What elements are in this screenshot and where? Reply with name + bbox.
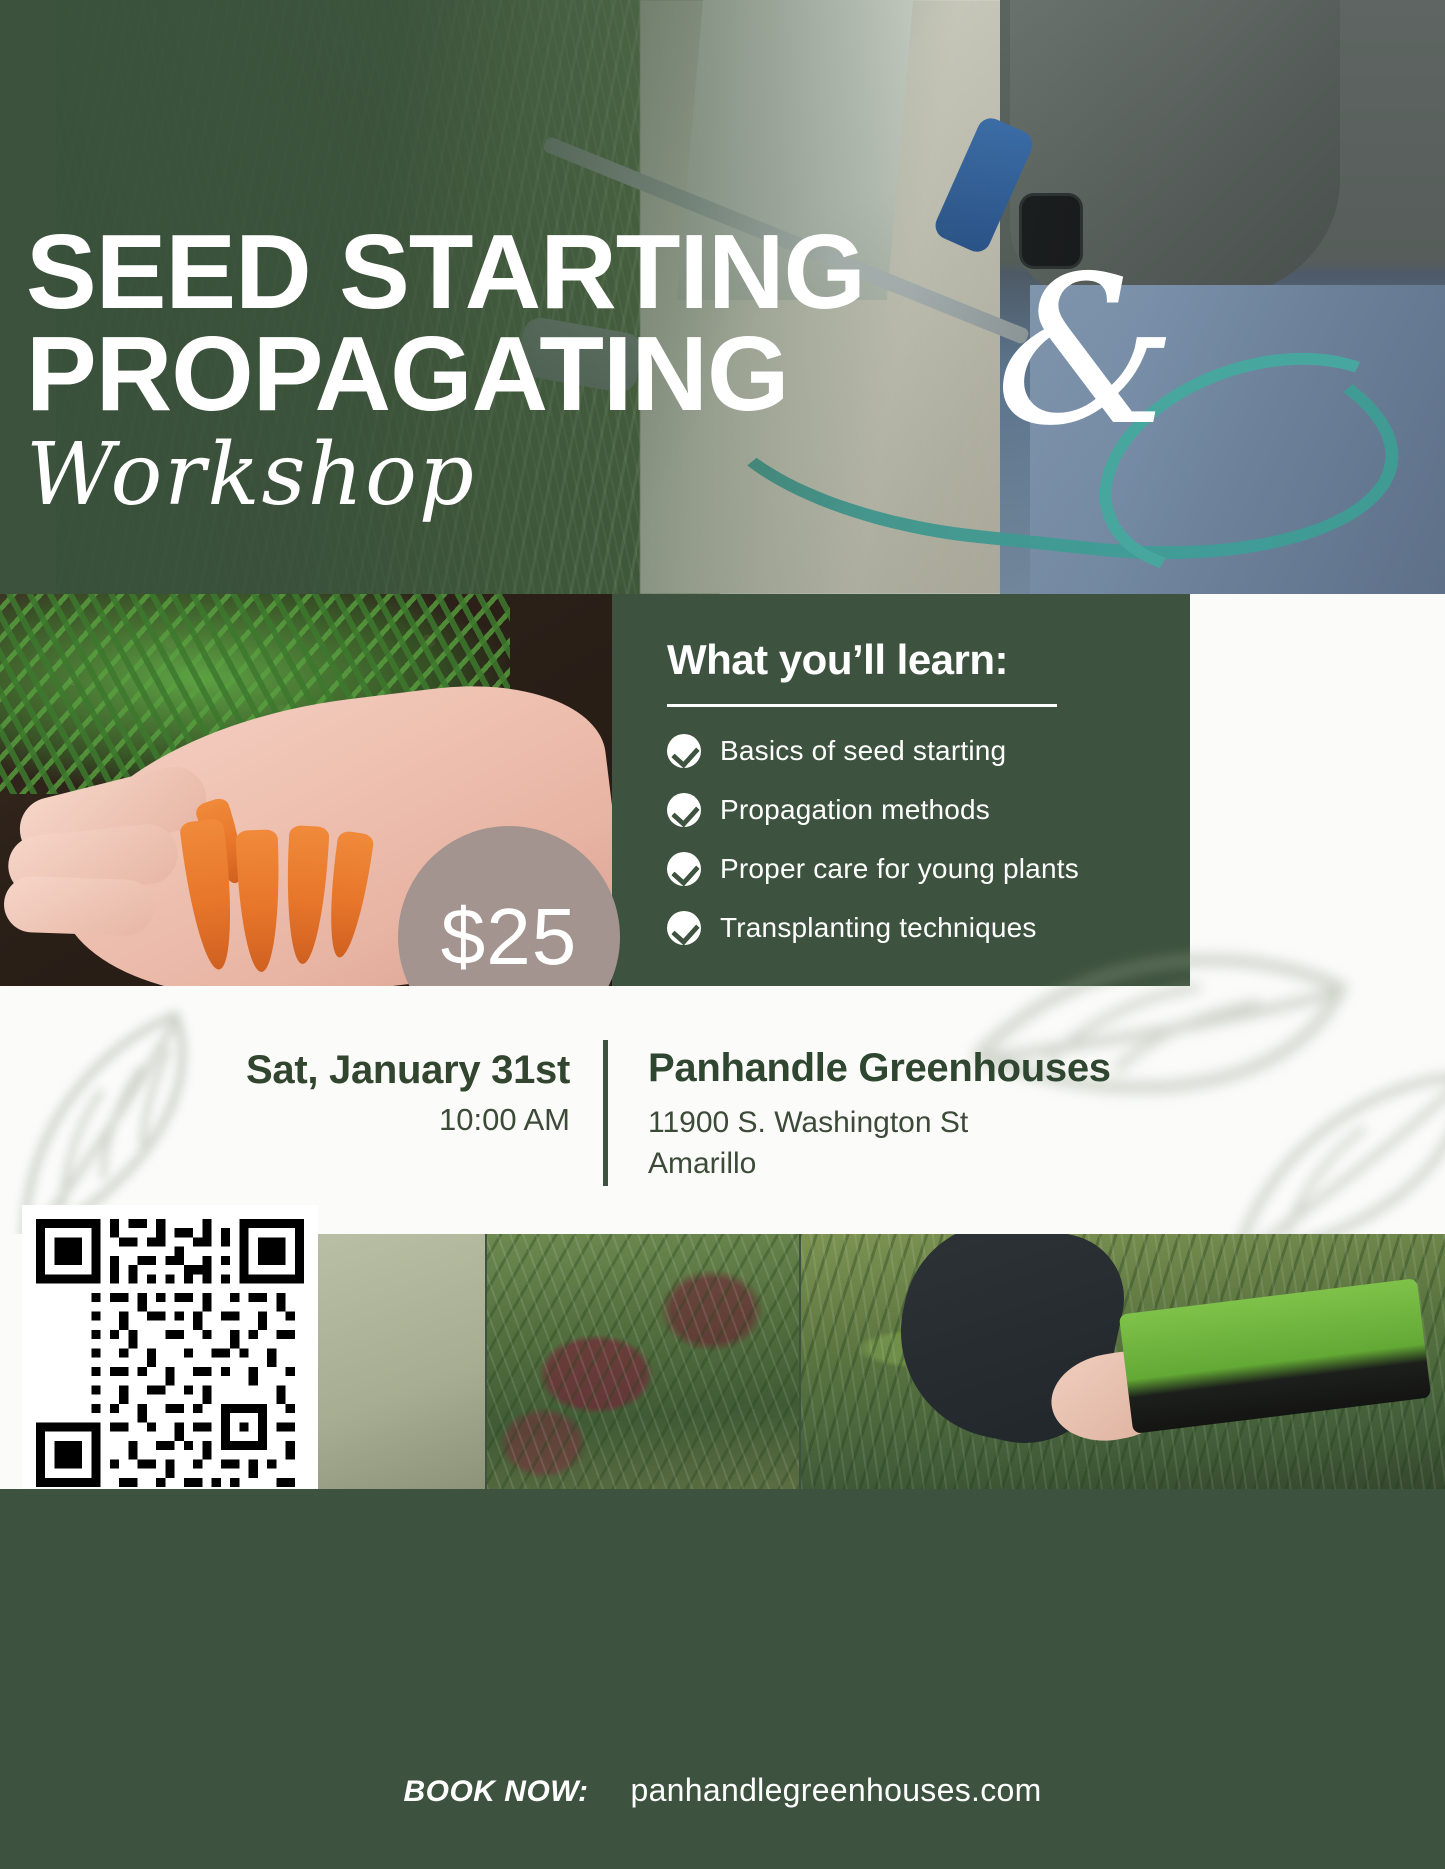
list-item: Basics of seed starting: [667, 734, 1079, 768]
foliage-texture: [487, 1234, 799, 1489]
venue-address-line-1: 11900 S. Washington St: [648, 1103, 1111, 1144]
price-amount: $25: [441, 891, 577, 983]
strip-photo-gardener-pants: [318, 1234, 485, 1489]
venue-address: 11900 S. Washington St Amarillo: [648, 1103, 1111, 1184]
strip-photo-garden-beds: [487, 1234, 799, 1489]
check-circle-icon: [667, 911, 701, 945]
event-date-block: Sat, January 31st 10:00 AM: [140, 1048, 570, 1138]
panel-heading: What you’ll learn:: [667, 636, 1008, 684]
check-circle-icon: [667, 852, 701, 886]
mid-band: What you’ll learn: Basics of seed starti…: [0, 594, 1445, 986]
hero-title-group: SEED STARTING PROPAGATING Workshop: [26, 222, 1206, 520]
list-item: Proper care for young plants: [667, 852, 1079, 886]
booking-url[interactable]: panhandlegreenhouses.com: [630, 1772, 1041, 1809]
event-date: Sat, January 31st: [140, 1048, 570, 1093]
footer-cta: BOOK NOW: panhandlegreenhouses.com: [0, 1489, 1445, 1869]
check-circle-icon: [667, 734, 701, 768]
list-item-label: Transplanting techniques: [720, 912, 1037, 944]
title-line-1: SEED STARTING: [26, 222, 1206, 324]
title-script-word: Workshop: [26, 430, 1206, 520]
event-time: 10:00 AM: [140, 1102, 570, 1138]
venue-name: Panhandle Greenhouses: [648, 1046, 1111, 1091]
list-item-label: Propagation methods: [720, 794, 990, 826]
venue-block: Panhandle Greenhouses 11900 S. Washingto…: [648, 1046, 1111, 1184]
book-now-label: BOOK NOW:: [403, 1775, 588, 1809]
title-line-2: PROPAGATING: [26, 324, 1206, 426]
hero-banner: & SEED STARTING PROPAGATING Workshop: [0, 0, 1445, 594]
qr-code-icon[interactable]: [22, 1205, 318, 1501]
panel-divider: [667, 704, 1057, 707]
details-divider: [603, 1040, 608, 1186]
venue-address-line-2: Amarillo: [648, 1144, 1111, 1185]
list-item: Propagation methods: [667, 793, 1079, 827]
check-circle-icon: [667, 793, 701, 827]
finger: [3, 875, 155, 936]
strip-photo-seedling-tray: [801, 1234, 1445, 1489]
booking-row: BOOK NOW: panhandlegreenhouses.com: [0, 1772, 1445, 1809]
qr-code-matrix: [36, 1219, 304, 1487]
list-item-label: Basics of seed starting: [720, 735, 1006, 767]
event-details-band: Sat, January 31st 10:00 AM Panhandle Gre…: [0, 986, 1445, 1234]
